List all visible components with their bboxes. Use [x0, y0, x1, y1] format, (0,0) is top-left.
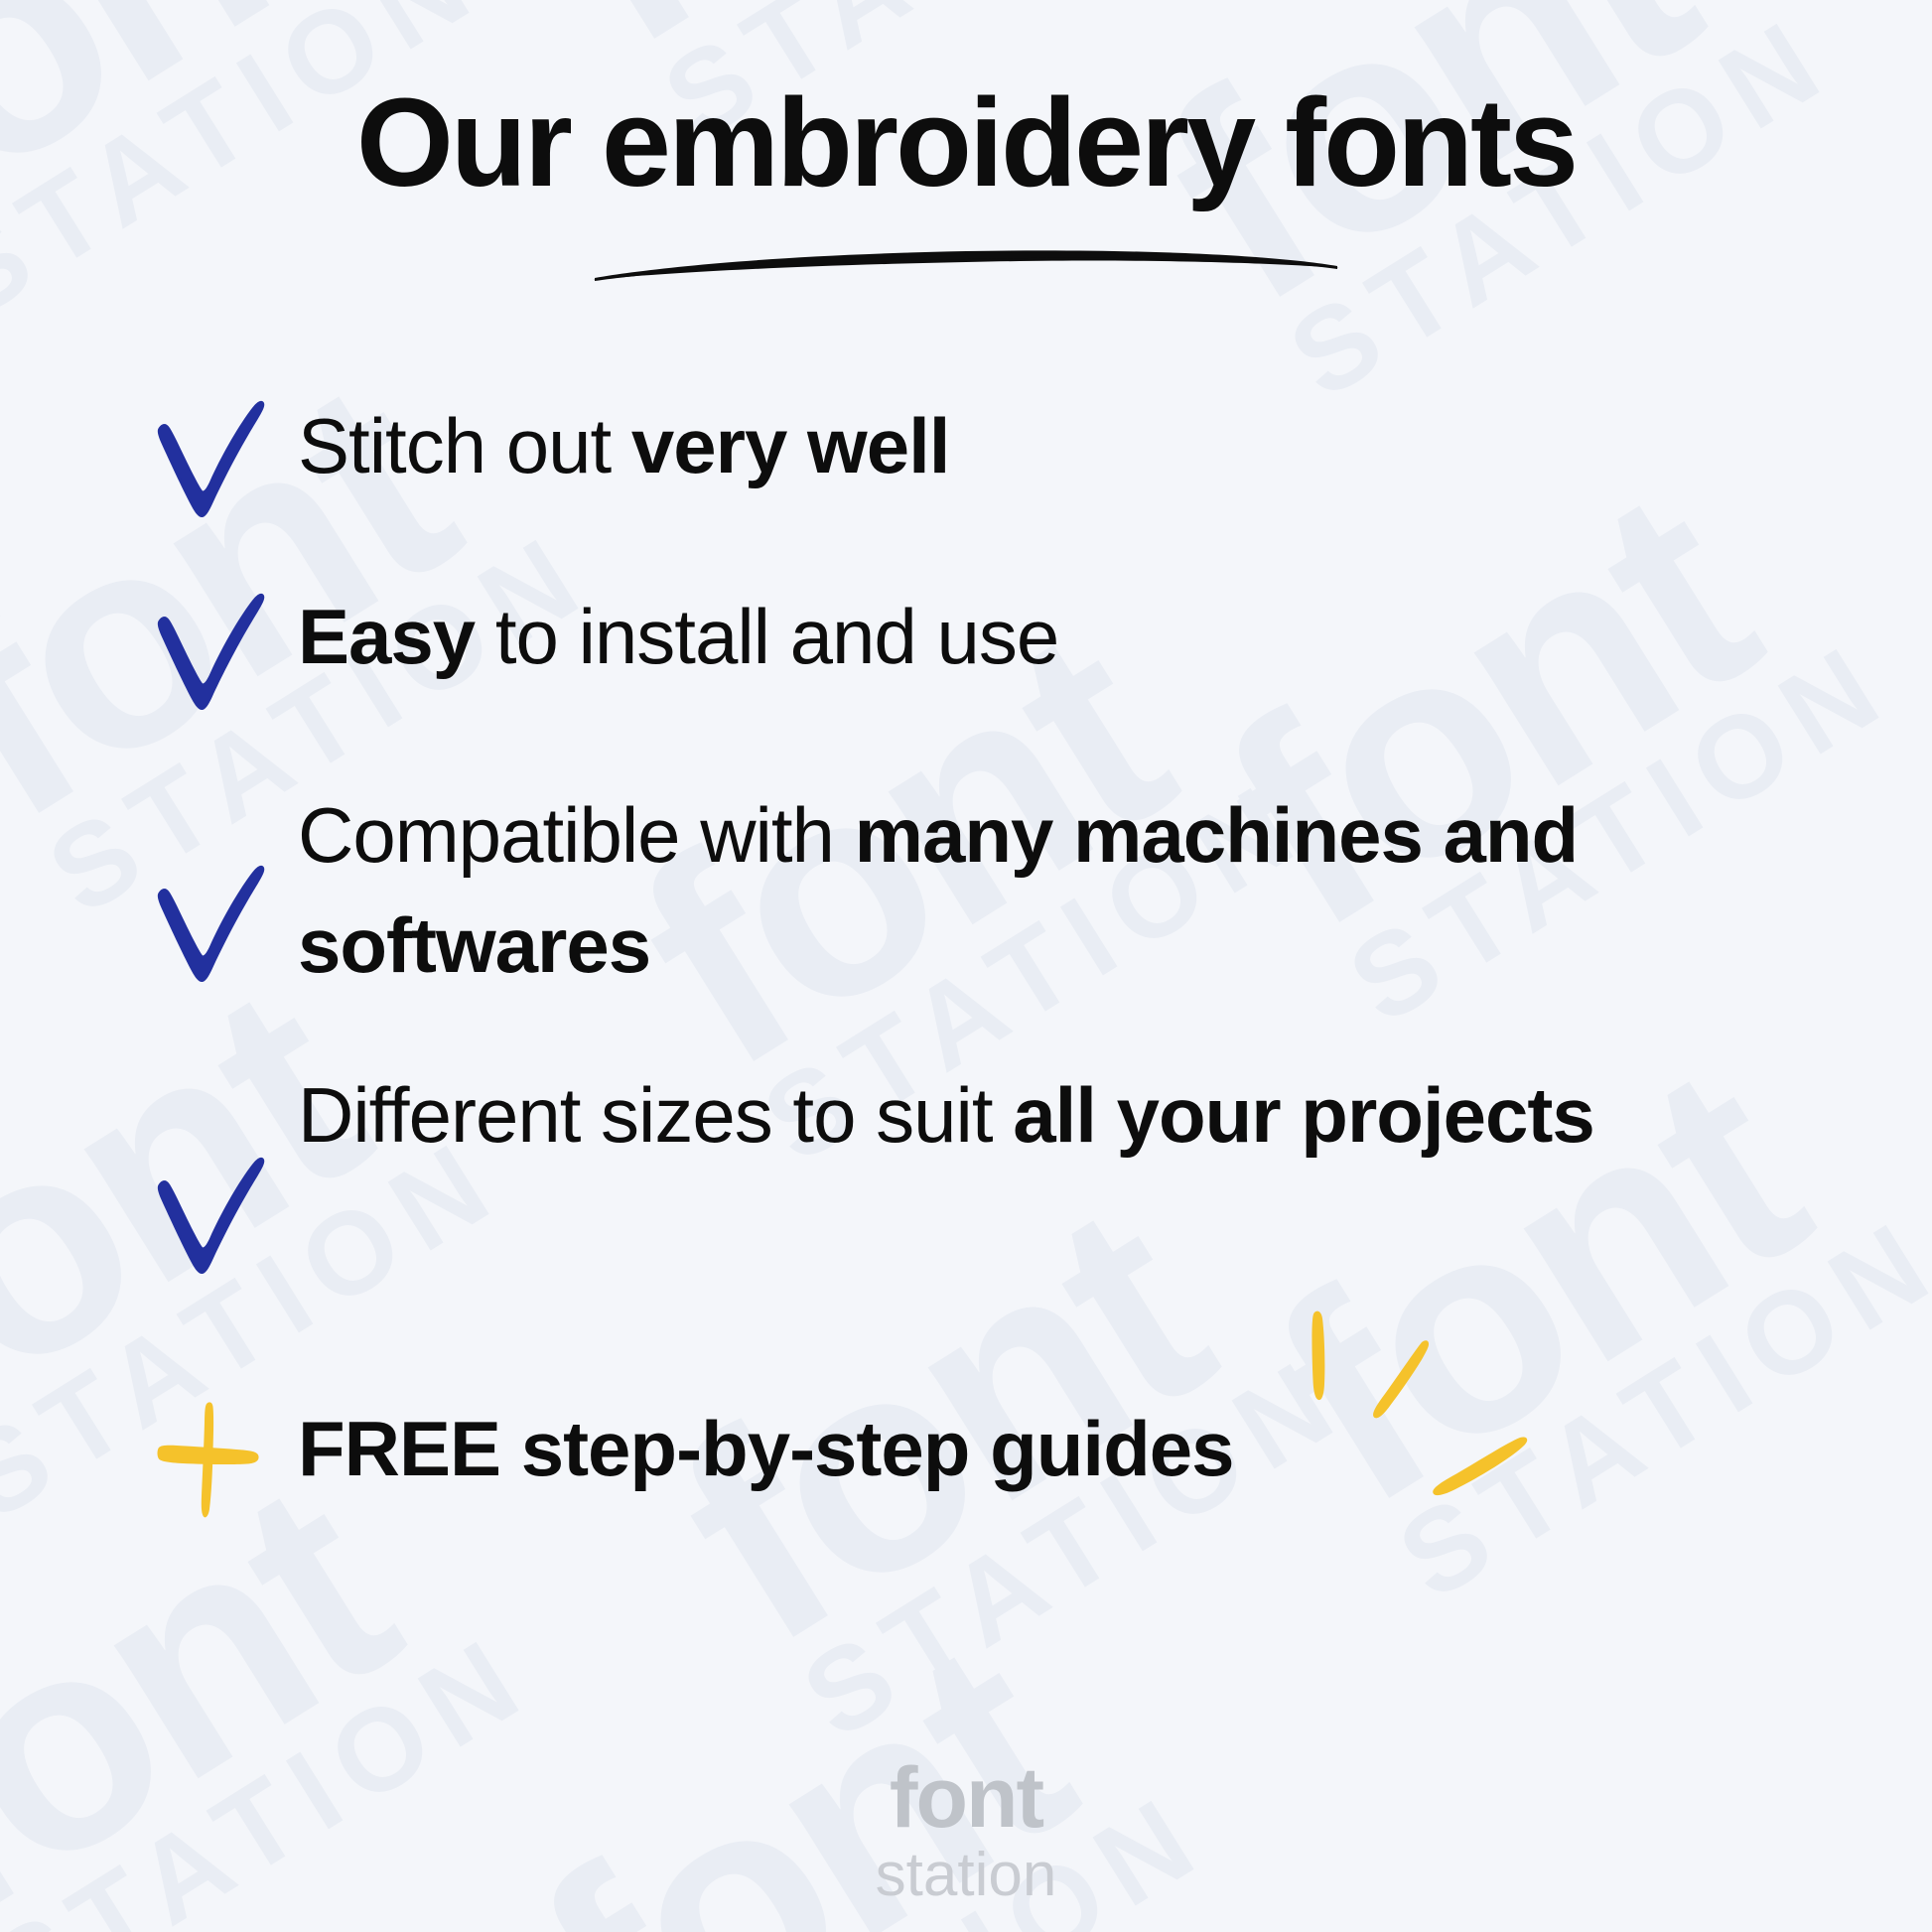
feature-text-1: Stitch out very well: [298, 389, 1837, 501]
feature-1-part-1: very well: [631, 402, 950, 489]
poster-canvas: fontSTATIONfontSTATIONfontSTATIONfontSTA…: [0, 0, 1932, 1932]
page-title: Our embroidery fonts: [0, 77, 1932, 208]
feature-item-4: Different sizes to suit all your project…: [149, 1058, 1837, 1281]
feature-item-5: FREE step-by-step guides: [149, 1392, 1837, 1523]
logo-station-text: station: [0, 1845, 1932, 1906]
feature-item-1: Stitch out very well: [149, 389, 1837, 524]
bullet-icon-3: [149, 778, 298, 989]
check-icon: [149, 1154, 278, 1281]
footer-logo: font station: [0, 1755, 1932, 1906]
feature-list: Stitch out very well Easy to install and…: [149, 389, 1837, 1575]
feature-text-3: Compatible with many machines and softwa…: [298, 778, 1837, 1001]
feature-text-4: Different sizes to suit all your project…: [298, 1058, 1837, 1171]
bullet-icon-5: [149, 1392, 298, 1523]
feature-text-2: Easy to install and use: [298, 580, 1837, 692]
feature-5-part-1: step-by-step guides: [500, 1405, 1233, 1492]
feature-5-part-0: FREE: [298, 1405, 500, 1492]
title-block: Our embroidery fonts: [0, 77, 1932, 288]
feature-text-5: FREE step-by-step guides: [298, 1392, 1837, 1504]
feature-4-part-0: Different sizes to suit: [298, 1071, 1013, 1159]
feature-4-part-1: all your projects: [1013, 1071, 1594, 1159]
logo-font-text: font: [0, 1755, 1932, 1841]
bullet-icon-4: [149, 1058, 298, 1281]
feature-1-part-0: Stitch out: [298, 402, 631, 489]
feature-item-3: Compatible with many machines and softwa…: [149, 778, 1837, 1001]
check-icon: [149, 397, 278, 524]
feature-2-part-0: Easy: [298, 593, 475, 680]
title-underline-stroke: [589, 236, 1343, 288]
feature-3-part-0: Compatible with: [298, 791, 855, 879]
plus-icon: [149, 1396, 278, 1523]
bullet-icon-2: [149, 580, 298, 717]
sparkle-icon: [1271, 1301, 1569, 1559]
feature-2-part-1: to install and use: [475, 593, 1058, 680]
check-icon: [149, 862, 278, 989]
bullet-icon-1: [149, 389, 298, 524]
check-icon: [149, 590, 278, 717]
watermark-font-text: font: [511, 0, 1165, 69]
feature-item-2: Easy to install and use: [149, 580, 1837, 717]
